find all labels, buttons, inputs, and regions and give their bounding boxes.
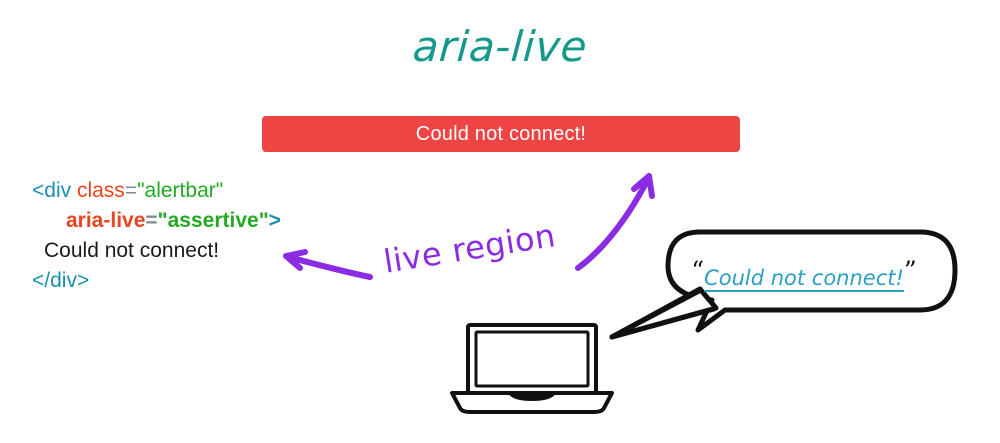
diagram-vector-art (0, 0, 1000, 443)
speech-bubble-quote: Could not connect! (704, 266, 904, 290)
diagram-canvas: aria-live Could not connect! <div class=… (0, 0, 1000, 443)
laptop-icon (452, 325, 612, 412)
open-quote-mark: “ (691, 256, 704, 285)
arrow-to-alertbar-icon (578, 176, 652, 268)
close-quote-mark: ” (904, 256, 917, 285)
speech-bubble-text: “Could not connect!” (686, 256, 922, 291)
arrow-to-code-icon (286, 252, 370, 277)
